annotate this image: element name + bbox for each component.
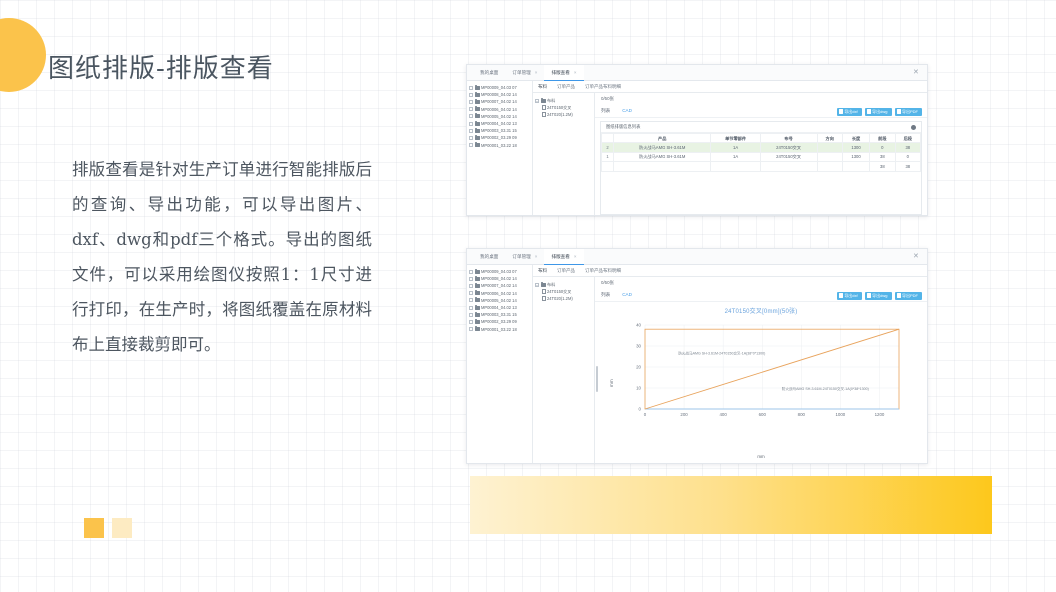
folder-icon <box>475 114 480 118</box>
checkbox-icon[interactable] <box>469 313 473 317</box>
checkbox-icon[interactable] <box>469 284 473 288</box>
cell-index: 1 <box>602 152 614 161</box>
folder-icon <box>475 298 480 302</box>
th-cloth-no: 布号 <box>760 134 817 143</box>
layout-table-card: 图纸排版信息列表 产品 单节零部件 布号 方向 <box>600 121 922 215</box>
subtab-order-product[interactable]: 订单产品 <box>557 268 575 274</box>
list-item-label: MP00003_03.31 15 <box>481 312 517 317</box>
checkbox-icon[interactable] <box>469 107 473 111</box>
th-index <box>602 134 614 143</box>
cell-empty <box>614 162 711 171</box>
folder-icon <box>475 306 480 310</box>
list-item-label: MP00002_03.29 09 <box>481 135 517 140</box>
svg-text:600: 600 <box>759 412 767 417</box>
close-icon[interactable]: ✕ <box>913 253 920 260</box>
app-window-top: 我的桌面 订单管理× 排版查看× ✕ MP00009_04.03 07 MP00… <box>466 64 928 216</box>
folder-icon <box>475 277 480 281</box>
table-header-row: 产品 单节零部件 布号 方向 长度 前段 后段 <box>602 134 921 143</box>
list-item-label: MP00005_04.02 14 <box>481 298 517 303</box>
list-item-label: MP00006_04.02 14 <box>481 291 517 296</box>
folder-icon <box>475 320 480 324</box>
svg-text:200: 200 <box>680 412 688 417</box>
cell-part: 1A <box>711 152 760 161</box>
export-dxf-label: 导出dxf <box>844 292 857 300</box>
list-item[interactable]: MP00001_03.22 18 <box>469 142 530 149</box>
file-icon <box>542 289 546 294</box>
order-tree-pane-top[interactable]: MP00009_04.03 07 MP00008_04.02 14 MP0000… <box>467 81 533 215</box>
svg-text:1000: 1000 <box>835 412 845 417</box>
export-icon <box>839 109 843 114</box>
svg-text:防火战马AMG SH-3.61M-24T0150交叉-1A(: 防火战马AMG SH-3.61M-24T0150交叉-1A(38*0*1300) <box>678 350 765 355</box>
file-icon <box>542 112 546 117</box>
folder-icon <box>475 122 480 126</box>
file-icon <box>542 296 546 301</box>
cell-back: 38 <box>895 143 920 152</box>
cell-back: 0 <box>895 152 920 161</box>
export-pdf-button[interactable]: 导出PDF <box>895 108 923 116</box>
th-part: 单节零部件 <box>711 134 760 143</box>
list-item-label: MP00001_03.22 18 <box>481 327 517 332</box>
tree-child-label: 24T0150交叉 <box>547 105 571 110</box>
cell-part: 1A <box>711 143 760 152</box>
bottom-tabbar: 我的桌面 订单管理× 排版查看× ✕ <box>467 249 927 265</box>
gear-icon[interactable] <box>911 125 916 130</box>
list-item[interactable]: MP00009_04.03 07 <box>469 84 530 91</box>
cell-length: 1300 <box>842 152 869 161</box>
list-item[interactable]: MP00006_04.02 14 <box>469 106 530 113</box>
tree-root[interactable]: –布料 <box>535 281 592 288</box>
list-item[interactable]: MP00004_04.02 13 <box>469 120 530 127</box>
tab-layout-view[interactable]: 排版查看× <box>544 249 583 265</box>
folder-icon <box>475 93 480 97</box>
th-front: 前段 <box>870 134 895 143</box>
subtab-fabric[interactable]: 布料 <box>538 84 547 90</box>
view-tab-list[interactable]: 列表 <box>601 292 610 298</box>
svg-text:0: 0 <box>639 406 642 411</box>
tree-child[interactable]: 24T0150交叉 <box>535 104 592 111</box>
tree-child[interactable]: 24T020(1.2M) <box>535 295 592 302</box>
content-pane-top: 布料 订单产品 订单产品布料明细 –布料 24T0150交叉 24T020(1.… <box>533 81 927 215</box>
export-dxf-label: 导出dxf <box>844 108 857 116</box>
app-window-bottom: 我的桌面 订单管理× 排版查看× ✕ MP00009_04.03 07 MP00… <box>466 248 928 464</box>
checkbox-icon[interactable] <box>469 86 473 90</box>
list-item[interactable]: MP00003_03.31 15 <box>469 311 530 318</box>
list-item-label: MP00003_03.31 15 <box>481 128 517 133</box>
cell-empty <box>817 162 842 171</box>
cell-direction <box>817 152 842 161</box>
export-dwg-label: 导出dwg <box>872 292 887 300</box>
decorative-square-pale <box>112 518 132 538</box>
tab-my-desktop[interactable]: 我的桌面 <box>473 65 505 81</box>
list-item[interactable]: MP00008_04.02 14 <box>469 275 530 282</box>
cell-product: 防火战马AMG SH-3.61M <box>614 143 711 152</box>
layout-chart: 010203040020040060080010001200防火战马AMG SH… <box>611 319 911 427</box>
top-tabbar: 我的桌面 订单管理× 排版查看× ✕ <box>467 65 927 81</box>
folder-icon <box>475 107 480 111</box>
list-item-label: MP00008_04.02 14 <box>481 276 517 281</box>
tree-child[interactable]: 24T0150交叉 <box>535 288 592 295</box>
svg-text:0: 0 <box>644 412 647 417</box>
sheet-count-label: 0/50张 <box>601 96 614 102</box>
svg-text:10: 10 <box>636 385 641 390</box>
subtab-fabric[interactable]: 布料 <box>538 268 547 274</box>
collapse-icon[interactable]: – <box>535 99 539 103</box>
view-tab-list[interactable]: 列表 <box>601 108 610 114</box>
svg-text:400: 400 <box>719 412 727 417</box>
table-row[interactable]: 1 防火战马AMG SH-3.61M 1A 24T0150交叉 1300 38 … <box>602 152 921 161</box>
tab-my-desktop[interactable]: 我的桌面 <box>473 249 505 265</box>
list-item-label: MP00007_04.02 14 <box>481 99 517 104</box>
sheet-count-label: 0/50张 <box>601 280 614 286</box>
file-icon <box>542 105 546 110</box>
view-tab-cad[interactable]: CAD <box>622 108 632 114</box>
folder-icon <box>475 291 480 295</box>
list-item[interactable]: MP00006_04.02 14 <box>469 290 530 297</box>
svg-text:40: 40 <box>636 322 641 327</box>
layout-table-title: 图纸排版信息列表 <box>606 124 640 129</box>
folder-icon <box>541 283 546 287</box>
tab-close-icon[interactable]: × <box>574 70 577 75</box>
vertical-scrollbar[interactable] <box>596 366 598 392</box>
tree-root-label: 布料 <box>547 98 555 103</box>
layout-table-title-bar: 图纸排版信息列表 <box>601 122 921 133</box>
th-direction: 方向 <box>817 134 842 143</box>
list-item-label: MP00002_03.29 09 <box>481 319 517 324</box>
pane-split-top: –布料 24T0150交叉 24T020(1.2M) 0/50张 列表 CAD … <box>533 93 927 215</box>
list-item-label: MP00004_04.02 13 <box>481 121 517 126</box>
folder-icon <box>541 99 546 103</box>
tree-root-label: 布料 <box>547 282 555 287</box>
export-button-group-top: 导出dxf 导出dwg 导出PDF <box>837 108 922 116</box>
sub-tabbar-top: 布料 订单产品 订单产品布料明细 <box>533 81 927 93</box>
export-icon <box>867 109 871 114</box>
svg-text:30: 30 <box>636 343 641 348</box>
layout-table: 产品 单节零部件 布号 方向 长度 前段 后段 <box>601 133 921 172</box>
checkbox-icon[interactable] <box>469 327 473 331</box>
checkbox-icon[interactable] <box>469 129 473 133</box>
body-paragraph: 排版查看是针对生产订单进行智能排版后的查询、导出功能，可以导出图片、dxf、dw… <box>72 152 372 362</box>
sub-tabbar-bottom: 布料 订单产品 订单产品布料明细 <box>533 265 927 277</box>
tree-root[interactable]: –布料 <box>535 97 592 104</box>
cell-total-front: 38 <box>870 162 895 171</box>
table-total-row: 38 38 <box>602 162 921 171</box>
cell-total-back: 38 <box>895 162 920 171</box>
th-back: 后段 <box>895 134 920 143</box>
cell-direction <box>817 143 842 152</box>
order-tree-pane-bottom[interactable]: MP00009_04.03 07 MP00008_04.02 14 MP0000… <box>467 265 533 463</box>
checkbox-icon[interactable] <box>469 270 473 274</box>
tree-child-label: 24T0150交叉 <box>547 289 571 294</box>
list-item[interactable]: MP00008_04.02 14 <box>469 91 530 98</box>
export-pdf-label: 导出PDF <box>902 108 918 116</box>
checkbox-icon[interactable] <box>469 114 473 118</box>
cell-empty <box>760 162 817 171</box>
detail-head-top: 0/50张 <box>595 93 927 105</box>
cell-index: 2 <box>602 143 614 152</box>
folder-icon <box>475 313 480 317</box>
cell-product: 防火战马AMG SH-3.61M <box>614 152 711 161</box>
table-row[interactable]: 2 防火战马AMG SH-3.61M 1A 24T0150交叉 1300 0 3… <box>602 143 921 152</box>
list-item[interactable]: MP00005_04.02 14 <box>469 297 530 304</box>
decorative-circle <box>0 18 46 92</box>
export-icon <box>897 109 901 114</box>
chart-title: 24T0150交叉[0mm](50张) <box>595 309 927 317</box>
tab-order-management[interactable]: 订单管理× <box>505 249 544 265</box>
list-item[interactable]: MP00007_04.02 14 <box>469 282 530 289</box>
detail-pane-bottom: 0/50张 列表 CAD 导出dxf 导出dwg 导出PDF 24T0150 <box>595 277 927 463</box>
collapse-icon[interactable]: – <box>535 283 539 287</box>
fabric-tree-bottom[interactable]: –布料 24T0150交叉 24T020(1.2M) <box>533 277 595 463</box>
checkbox-icon[interactable] <box>469 298 473 302</box>
cell-cloth-no: 24T0150交叉 <box>760 143 817 152</box>
checkbox-icon[interactable] <box>469 136 473 140</box>
checkbox-icon[interactable] <box>469 93 473 97</box>
tab-label: 订单管理 <box>512 70 530 75</box>
cell-front: 0 <box>870 143 895 152</box>
view-tab-cad[interactable]: CAD <box>622 292 632 298</box>
tree-child-label: 24T020(1.2M) <box>547 296 573 301</box>
content-pane-bottom: 布料 订单产品 订单产品布料明细 –布料 24T0150交叉 24T020(1.… <box>533 265 927 463</box>
checkbox-icon[interactable] <box>469 100 473 104</box>
folder-icon <box>475 136 480 140</box>
th-length: 长度 <box>842 134 869 143</box>
export-pdf-button[interactable]: 导出PDF <box>895 292 923 300</box>
detail-pane-top: 0/50张 列表 CAD 导出dxf 导出dwg 导出PDF 图纸排版信 <box>595 93 927 215</box>
tab-label: 订单管理 <box>512 254 530 259</box>
folder-icon <box>475 100 480 104</box>
cell-front: 38 <box>870 152 895 161</box>
fabric-tree-top[interactable]: –布料 24T0150交叉 24T020(1.2M) <box>533 93 595 215</box>
svg-text:20: 20 <box>636 364 641 369</box>
checkbox-icon[interactable] <box>469 122 473 126</box>
subtab-order-product-fabric-detail[interactable]: 订单产品布料明细 <box>585 268 621 274</box>
tree-child-label: 24T020(1.2M) <box>547 112 573 117</box>
list-item-label: MP00005_04.02 14 <box>481 114 517 119</box>
list-item-label: MP00009_04.03 07 <box>481 269 517 274</box>
checkbox-icon[interactable] <box>469 143 473 147</box>
cad-chart-area[interactable]: 24T0150交叉[0mm](50张) 01020304002004006008… <box>595 302 927 463</box>
export-dxf-button[interactable]: 导出dxf <box>837 292 862 300</box>
subtab-order-product-fabric-detail[interactable]: 订单产品布料明细 <box>585 84 621 90</box>
list-item-label: MP00001_03.22 18 <box>481 143 517 148</box>
tree-child[interactable]: 24T020(1.2M) <box>535 111 592 118</box>
tab-close-icon[interactable]: × <box>535 70 538 75</box>
tab-layout-view[interactable]: 排版查看× <box>544 65 583 81</box>
cell-empty <box>711 162 760 171</box>
detail-head-bottom: 0/50张 <box>595 277 927 289</box>
bottom-body: MP00009_04.03 07 MP00008_04.02 14 MP0000… <box>467 265 927 463</box>
tab-close-icon[interactable]: × <box>574 254 577 259</box>
th-product: 产品 <box>614 134 711 143</box>
export-icon <box>897 293 901 298</box>
chart-x-axis-label: mm <box>595 454 927 460</box>
list-item-label: MP00009_04.03 07 <box>481 85 517 90</box>
export-pdf-label: 导出PDF <box>902 292 918 300</box>
cell-empty <box>842 162 869 171</box>
folder-icon <box>475 327 480 331</box>
list-item-label: MP00007_04.02 14 <box>481 283 517 288</box>
folder-icon <box>475 284 480 288</box>
list-item[interactable]: MP00005_04.02 14 <box>469 113 530 120</box>
subtab-order-product[interactable]: 订单产品 <box>557 84 575 90</box>
checkbox-icon[interactable] <box>469 277 473 281</box>
tab-label: 我的桌面 <box>480 70 498 75</box>
cell-empty <box>602 162 614 171</box>
page-title: 图纸排版-排版查看 <box>48 48 274 85</box>
svg-text:800: 800 <box>798 412 806 417</box>
pane-split-bottom: –布料 24T0150交叉 24T020(1.2M) 0/50张 列表 CAD … <box>533 277 927 463</box>
chart-y-axis-label: mm <box>609 379 615 387</box>
list-item[interactable]: MP00001_03.22 18 <box>469 326 530 333</box>
checkbox-icon[interactable] <box>469 291 473 295</box>
tab-order-management[interactable]: 订单管理× <box>505 65 544 81</box>
svg-text:防火战马AMG SH-3.61M-24T0150交叉-1A(: 防火战马AMG SH-3.61M-24T0150交叉-1A(0*38*1300) <box>782 386 869 391</box>
svg-text:1200: 1200 <box>875 412 885 417</box>
list-item[interactable]: MP00003_03.31 15 <box>469 127 530 134</box>
close-icon[interactable]: ✕ <box>913 69 920 76</box>
checkbox-icon[interactable] <box>469 320 473 324</box>
tab-label: 排版查看 <box>551 254 569 259</box>
list-item[interactable]: MP00007_04.02 14 <box>469 98 530 105</box>
export-icon <box>839 293 843 298</box>
list-item-label: MP00004_04.02 13 <box>481 305 517 310</box>
export-dwg-label: 导出dwg <box>872 108 887 116</box>
list-item-label: MP00006_04.02 14 <box>481 107 517 112</box>
folder-icon <box>475 143 480 147</box>
tab-close-icon[interactable]: × <box>535 254 538 259</box>
folder-icon <box>475 129 480 133</box>
cell-cloth-no: 24T0150交叉 <box>760 152 817 161</box>
view-tabs-top: 列表 CAD 导出dxf 导出dwg 导出PDF <box>595 105 927 118</box>
decorative-square-solid <box>84 518 104 538</box>
folder-icon <box>475 270 480 274</box>
decorative-gradient-banner <box>470 476 992 534</box>
view-tabs-bottom: 列表 CAD 导出dxf 导出dwg 导出PDF <box>595 289 927 302</box>
list-item[interactable]: MP00004_04.02 13 <box>469 304 530 311</box>
tab-label: 排版查看 <box>551 70 569 75</box>
export-icon <box>867 293 871 298</box>
list-item[interactable]: MP00002_03.29 09 <box>469 134 530 141</box>
cell-length: 1300 <box>842 143 869 152</box>
list-item[interactable]: MP00009_04.03 07 <box>469 268 530 275</box>
export-dxf-button[interactable]: 导出dxf <box>837 108 862 116</box>
checkbox-icon[interactable] <box>469 306 473 310</box>
export-dwg-button[interactable]: 导出dwg <box>865 108 892 116</box>
export-dwg-button[interactable]: 导出dwg <box>865 292 892 300</box>
export-button-group-bottom: 导出dxf 导出dwg 导出PDF <box>837 292 922 300</box>
tab-label: 我的桌面 <box>480 254 498 259</box>
list-item-label: MP00008_04.02 14 <box>481 92 517 97</box>
top-body: MP00009_04.03 07 MP00008_04.02 14 MP0000… <box>467 81 927 215</box>
folder-icon <box>475 86 480 90</box>
list-item[interactable]: MP00002_03.29 09 <box>469 318 530 325</box>
